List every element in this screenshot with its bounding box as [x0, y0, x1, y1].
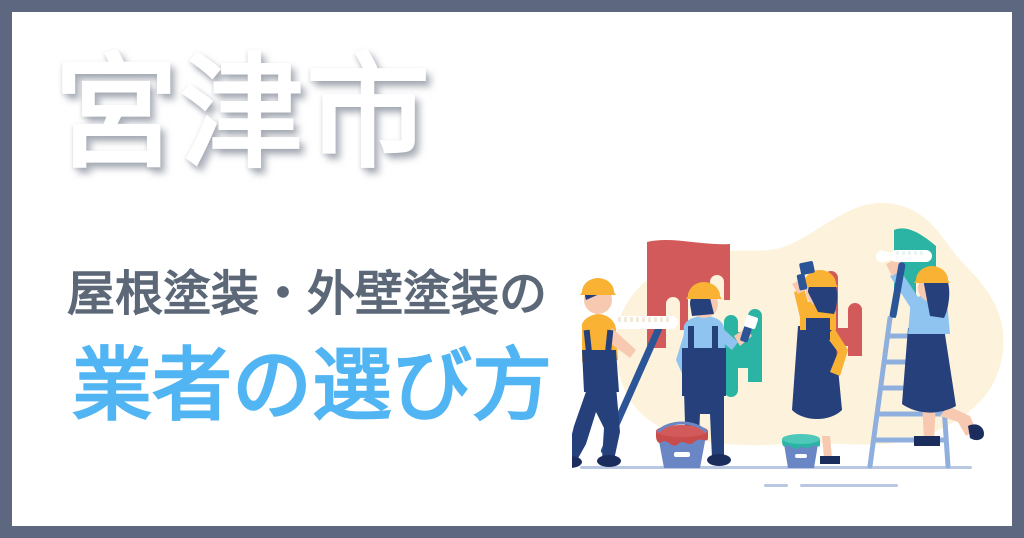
paint-roller-handheld	[876, 250, 932, 263]
banner-canvas: 宮津市 屋根塗装・外壁塗装の 業者の選び方	[12, 12, 1012, 526]
worker1-shoe-right	[597, 455, 621, 467]
worker4-shoe-front	[914, 436, 940, 446]
worker2-overalls	[682, 348, 726, 396]
worker1-overalls	[582, 350, 619, 392]
ground-dash-long	[800, 484, 898, 487]
worker2-shoe-right	[707, 454, 731, 466]
worker3-shoe-right	[820, 456, 840, 464]
worker1-hard-hat	[580, 278, 616, 295]
subtitle-line-2: 業者の選び方	[72, 346, 552, 426]
red-paint-bucket	[656, 423, 708, 468]
teal-paint-bucket	[782, 434, 820, 468]
subtitle-line-1: 屋根塗装・外壁塗装の	[67, 270, 547, 318]
banner-border: 宮津市 屋根塗装・外壁塗装の 業者の選び方	[0, 0, 1024, 538]
house-painters-illustration	[572, 200, 1012, 520]
worker1-legs	[572, 386, 620, 462]
worker4-shoe-back	[968, 424, 984, 440]
page-title-city: 宮津市	[54, 52, 432, 176]
worker3-apron	[806, 318, 830, 340]
worker1-shoe-left	[572, 456, 582, 468]
hero-text-block: 宮津市 屋根塗装・外壁塗装の 業者の選び方	[12, 12, 612, 526]
ground-line	[580, 466, 972, 469]
ground-dash-short	[764, 484, 788, 487]
